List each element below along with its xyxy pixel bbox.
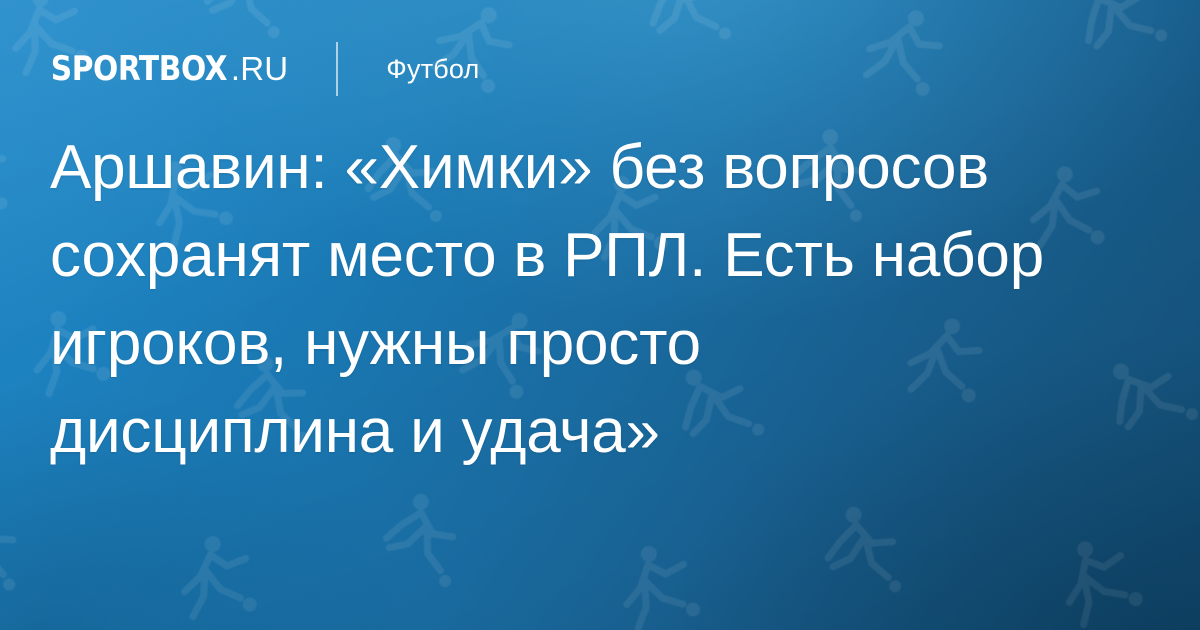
card-header: SPORTBOX .RU Футбол [48,44,480,94]
section-label-football[interactable]: Футбол [386,54,479,85]
logo-suffix-text: .RU [231,52,288,85]
headline-line-4: дисциплина и удача» [50,388,1160,476]
headline-line-1: Аршавин: «Химки» без вопросов [50,124,1160,212]
logo-main-text: SPORTBOX [51,52,227,86]
page-title: Аршавин: «Химки» без вопросов сохранят м… [50,124,1160,476]
share-card: SPORTBOX .RU Футбол Аршавин: «Химки» без… [0,0,1200,630]
headline-line-3: игроков, нужны просто [50,300,1160,388]
sportbox-ru-logo[interactable]: SPORTBOX .RU [48,52,288,86]
header-divider [336,42,338,96]
headline-line-2: сохранят место в РПЛ. Есть набор [50,212,1160,300]
